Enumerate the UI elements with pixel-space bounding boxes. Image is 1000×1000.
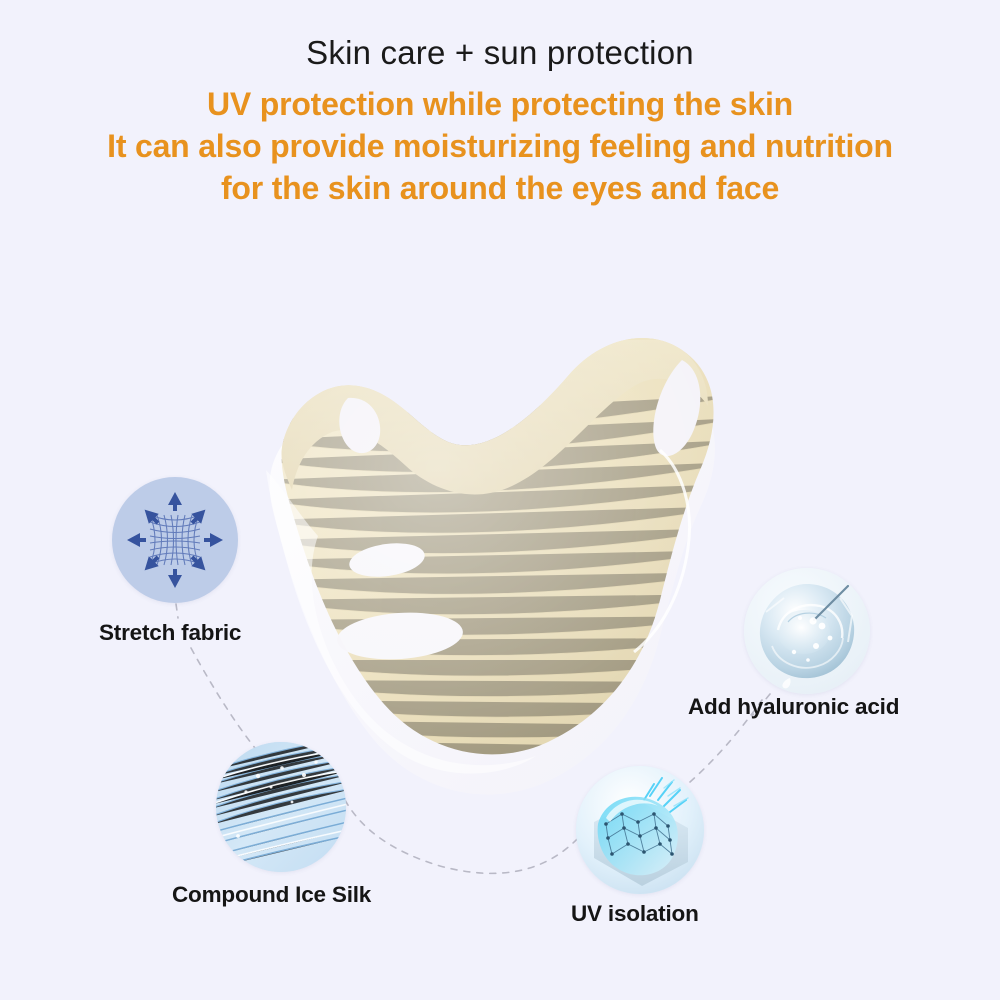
uv-isolation-circle[interactable]: [576, 766, 704, 894]
feature-stretch-fabric[interactable]: [112, 477, 238, 603]
stretch-arrows: [127, 492, 223, 588]
headline-block: Skin care + sun protection UV protection…: [0, 36, 1000, 210]
headline-primary: Skin care + sun protection: [0, 36, 1000, 69]
ice-silk-fiber-icon: [216, 742, 346, 872]
uv-shield-icon: [576, 766, 704, 894]
stretch-mesh-icon: [112, 477, 238, 603]
water-drop-gel-icon: [744, 568, 870, 694]
hyaluronic-acid-circle[interactable]: [744, 568, 870, 694]
feature-label-stretch-fabric: Stretch fabric: [99, 620, 241, 646]
feature-label-add-hyaluronic-acid: Add hyaluronic acid: [688, 694, 899, 720]
feature-label-uv-isolation: UV isolation: [571, 901, 699, 927]
product-mask-illustration: [230, 300, 800, 800]
compound-ice-silk-circle[interactable]: [216, 742, 346, 872]
headline-sub-line-2: It can also provide moisturizing feeling…: [0, 125, 1000, 167]
infographic-page: Skin care + sun protection UV protection…: [0, 0, 1000, 1000]
headline-sub-line-1: UV protection while protecting the skin: [0, 83, 1000, 125]
feature-add-hyaluronic-acid[interactable]: [744, 568, 870, 694]
headline-subtitle: UV protection while protecting the skin …: [0, 83, 1000, 210]
connector-icesilk-to-uv: [345, 800, 580, 873]
feature-label-compound-ice-silk: Compound Ice Silk: [172, 882, 371, 908]
connector-stretch-to-icesilk: [176, 604, 178, 618]
stretch-fabric-circle[interactable]: [112, 477, 238, 603]
feature-uv-isolation[interactable]: [576, 766, 704, 894]
feature-compound-ice-silk[interactable]: [216, 742, 346, 872]
headline-sub-line-3: for the skin around the eyes and face: [0, 167, 1000, 209]
